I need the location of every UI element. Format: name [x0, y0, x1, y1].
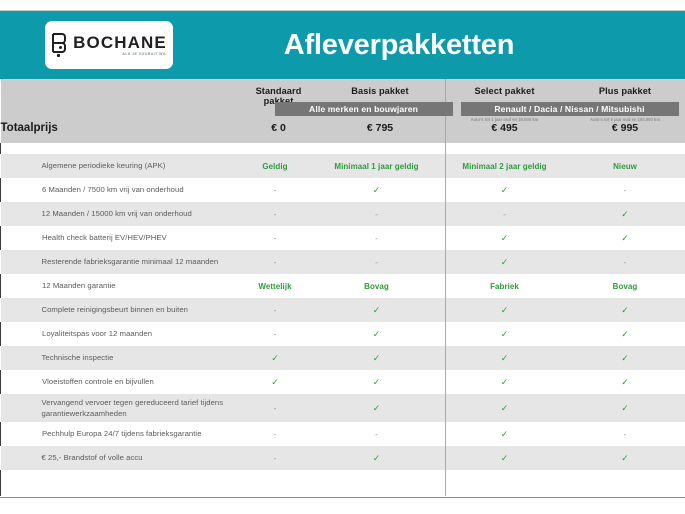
cell-plus: -	[565, 250, 685, 274]
spacer-label-cell	[1, 143, 242, 154]
cell-select: Fabriek	[445, 274, 565, 298]
footer-label-cell	[1, 470, 242, 496]
cell-standaard: -	[242, 202, 309, 226]
table-row: Pechhulp Europa 24/7 tijdens fabrieksgar…	[1, 422, 685, 446]
total-price-label: Totaalprijs	[1, 122, 242, 134]
cell-select: ✓	[445, 322, 565, 346]
table-footer-row	[1, 470, 685, 496]
cell-standaard: -	[242, 322, 309, 346]
cell-plus: -	[565, 422, 685, 446]
row-label: Vloeistoffen controle en bijvullen	[1, 370, 242, 394]
table-row: 12 Maanden / 15000 km vrij van onderhoud…	[1, 202, 685, 226]
cell-select: ✓	[445, 346, 565, 370]
cell-select: Minimaal 2 jaar geldig	[445, 154, 565, 178]
cell-basis: -	[309, 202, 445, 226]
cell-plus: Bovag	[565, 274, 685, 298]
header-spacer-row	[1, 143, 685, 154]
cell-basis: ✓	[309, 346, 445, 370]
row-label: 12 Maanden garantie	[1, 274, 242, 298]
spacer-cell-c	[445, 143, 565, 154]
bochane-logo: BOCHANE ALS JE VOORUIT WIL	[45, 21, 173, 69]
column-header-select: Select pakket	[445, 86, 565, 96]
cell-standaard: -	[242, 446, 309, 470]
cell-plus: ✓	[565, 298, 685, 322]
column-header-plus: Plus pakket	[565, 86, 685, 96]
row-label: Technische inspectie	[1, 346, 242, 370]
header-total-cell: Totaalprijs	[1, 79, 242, 143]
cell-standaard: -	[242, 226, 309, 250]
table-row: Vloeistoffen controle en bijvullen✓✓✓✓	[1, 370, 685, 394]
cell-select: ✓	[445, 178, 565, 202]
price-select: € 495	[445, 122, 565, 134]
table-row: Loyaliteitspas voor 12 maanden-✓✓✓	[1, 322, 685, 346]
footer-cell-a	[242, 470, 309, 496]
cell-plus: ✓	[565, 346, 685, 370]
cell-plus: Nieuw	[565, 154, 685, 178]
footer-cell-c	[445, 470, 565, 496]
cell-basis: ✓	[309, 298, 445, 322]
cell-standaard: ✓	[242, 346, 309, 370]
column-header-basis: Basis pakket	[316, 86, 445, 96]
afleverpakketten-page: BOCHANE ALS JE VOORUIT WIL Afleverpakket…	[0, 0, 685, 514]
price-plus: € 995	[565, 122, 685, 134]
cell-basis: -	[309, 422, 445, 446]
header-group-left: Standaard pakket Basis pakket Alle merke…	[242, 79, 445, 143]
row-label: Algemene periodieke keuring (APK)	[1, 154, 242, 178]
cell-standaard: -	[242, 394, 309, 422]
table-row: Health check batterij EV/HEV/PHEV--✓✓	[1, 226, 685, 250]
table-row: € 25,- Brandstof of volle accu-✓✓✓	[1, 446, 685, 470]
cell-standaard: Geldig	[242, 154, 309, 178]
table-row: 6 Maanden / 7500 km vrij van onderhoud-✓…	[1, 178, 685, 202]
spacer-cell-b	[309, 143, 445, 154]
cell-standaard: -	[242, 250, 309, 274]
footer-cell-b	[309, 470, 445, 496]
package-comparison-table: Totaalprijs Standaard pakket Basis pakke…	[0, 79, 685, 496]
cell-basis: Minimaal 1 jaar geldig	[309, 154, 445, 178]
cell-plus: ✓	[565, 446, 685, 470]
row-label: 6 Maanden / 7500 km vrij van onderhoud	[1, 178, 242, 202]
spacer-cell-d	[565, 143, 685, 154]
row-label: € 25,- Brandstof of volle accu	[1, 446, 242, 470]
cell-basis: -	[309, 226, 445, 250]
cell-select: ✓	[445, 250, 565, 274]
cell-plus: -	[565, 178, 685, 202]
row-label: Loyaliteitspas voor 12 maanden	[1, 322, 242, 346]
cell-basis: ✓	[309, 178, 445, 202]
cell-basis: ✓	[309, 370, 445, 394]
page-title: Afleverpakketten	[173, 29, 625, 62]
group-band-left: Alle merken en bouwjaren	[275, 102, 453, 116]
cell-basis: ✓	[309, 394, 445, 422]
cell-select: ✓	[445, 370, 565, 394]
group-band-right: Renault / Dacia / Nissan / Mitsubishi	[461, 102, 679, 116]
cell-plus: ✓	[565, 226, 685, 250]
bottom-divider	[0, 497, 685, 498]
price-standaard: € 0	[242, 122, 316, 134]
table-row: Complete reinigingsbeurt binnen en buite…	[1, 298, 685, 322]
cell-standaard: -	[242, 298, 309, 322]
logo-tagline: ALS JE VOORUIT WIL	[122, 53, 166, 56]
cell-standaard: -	[242, 422, 309, 446]
cell-plus: ✓	[565, 202, 685, 226]
cell-basis: ✓	[309, 322, 445, 346]
cell-select: ✓	[445, 422, 565, 446]
spacer-cell-a	[242, 143, 309, 154]
row-label: Complete reinigingsbeurt binnen en buite…	[1, 298, 242, 322]
table-row: Algemene periodieke keuring (APK)GeldigM…	[1, 154, 685, 178]
table-row: 12 Maanden garantieWettelijkBovagFabriek…	[1, 274, 685, 298]
bochane-mark-icon	[51, 32, 68, 58]
cell-plus: ✓	[565, 370, 685, 394]
cell-select: ✓	[445, 298, 565, 322]
cell-standaard: ✓	[242, 370, 309, 394]
row-label: Health check batterij EV/HEV/PHEV	[1, 226, 242, 250]
row-label: Resterende fabrieksgarantie minimaal 12 …	[1, 250, 242, 274]
row-label: Pechhulp Europa 24/7 tijdens fabrieksgar…	[1, 422, 242, 446]
table-row: Technische inspectie✓✓✓✓	[1, 346, 685, 370]
cell-standaard: -	[242, 178, 309, 202]
cell-basis: Bovag	[309, 274, 445, 298]
cell-standaard: Wettelijk	[242, 274, 309, 298]
price-basis: € 795	[316, 122, 445, 134]
cell-plus: ✓	[565, 394, 685, 422]
header-group-right: Select pakket Plus pakket Renault / Daci…	[445, 79, 685, 143]
cell-plus: ✓	[565, 322, 685, 346]
cell-basis: -	[309, 250, 445, 274]
cell-select: -	[445, 202, 565, 226]
table-row: Resterende fabrieksgarantie minimaal 12 …	[1, 250, 685, 274]
cell-select: ✓	[445, 394, 565, 422]
table-row: Vervangend vervoer tegen gereduceerd tar…	[1, 394, 685, 422]
row-label: Vervangend vervoer tegen gereduceerd tar…	[1, 394, 242, 422]
cell-basis: ✓	[309, 446, 445, 470]
cell-select: ✓	[445, 226, 565, 250]
table-header-row: Totaalprijs Standaard pakket Basis pakke…	[1, 79, 685, 143]
logo-wordmark: BOCHANE	[73, 34, 167, 51]
page-masthead: BOCHANE ALS JE VOORUIT WIL Afleverpakket…	[0, 11, 685, 79]
footer-cell-d	[565, 470, 685, 496]
cell-select: ✓	[445, 446, 565, 470]
row-label: 12 Maanden / 15000 km vrij van onderhoud	[1, 202, 242, 226]
